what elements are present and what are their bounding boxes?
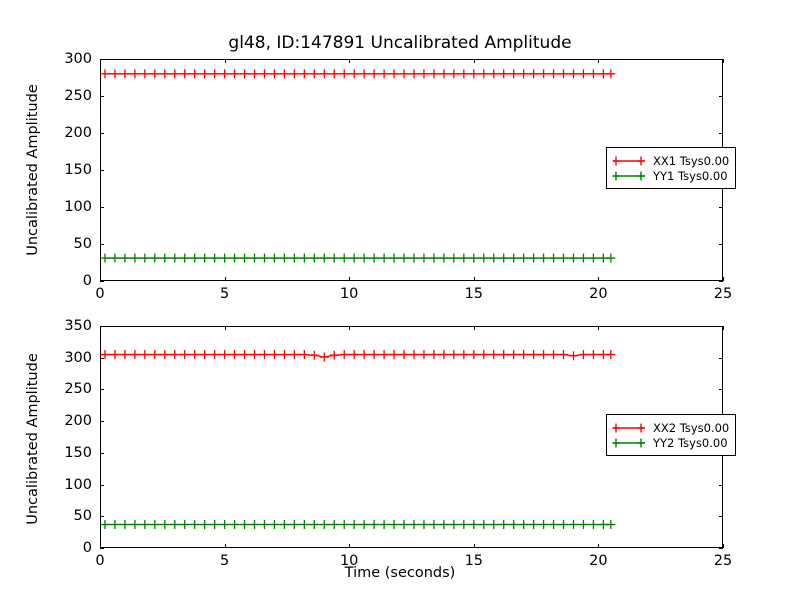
figure-canvas: gl48, ID:147891 Uncalibrated Amplitude U… [0,0,800,600]
ytick-mark-right [719,516,723,517]
ytick-label: 150 [34,445,92,461]
ytick-mark-right [719,485,723,486]
ytick-mark [100,421,104,422]
legend-label-xx2: XX2 Tsys0.00 [653,421,729,435]
ytick-label: 250 [34,381,92,397]
ytick-label: 300 [34,350,92,366]
xtick-mark [100,544,101,548]
legend-sample-xx2-icon [612,421,646,435]
ytick-label: 200 [34,413,92,429]
ytick-mark [100,358,104,359]
xtick-mark-top [723,326,724,330]
xtick-mark-top [349,326,350,330]
ytick-mark [100,516,104,517]
xtick-mark-top [225,326,226,330]
ytick-label: 50 [34,508,92,524]
ytick-mark [100,389,104,390]
xtick-mark [723,544,724,548]
legend-item: XX2 Tsys0.00 [612,420,729,435]
xtick-mark-top [474,326,475,330]
data-series [100,520,615,529]
xtick-mark-top [598,326,599,330]
xtick-mark-top [100,326,101,330]
ytick-mark [100,453,104,454]
legend-label-yy2: YY2 Tsys0.00 [653,436,728,450]
xtick-mark [349,544,350,548]
ytick-label: 0 [34,540,92,556]
ytick-mark-right [719,548,723,549]
bottom-panel-legend: XX2 Tsys0.00 YY2 Tsys0.00 [606,414,736,456]
legend-sample-yy2-icon [612,436,646,450]
legend-item: YY2 Tsys0.00 [612,435,729,450]
bottom-panel-plot [0,0,800,600]
ytick-label: 100 [34,477,92,493]
xtick-mark [474,544,475,548]
ytick-mark [100,485,104,486]
ytick-mark-right [719,389,723,390]
ytick-mark-right [719,326,723,327]
ytick-mark [100,548,104,549]
data-series [100,350,615,362]
xtick-mark [598,544,599,548]
ytick-label: 350 [34,318,92,334]
xtick-mark [225,544,226,548]
ytick-mark-right [719,358,723,359]
bottom-panel-xlabel: Time (seconds) [0,565,800,581]
